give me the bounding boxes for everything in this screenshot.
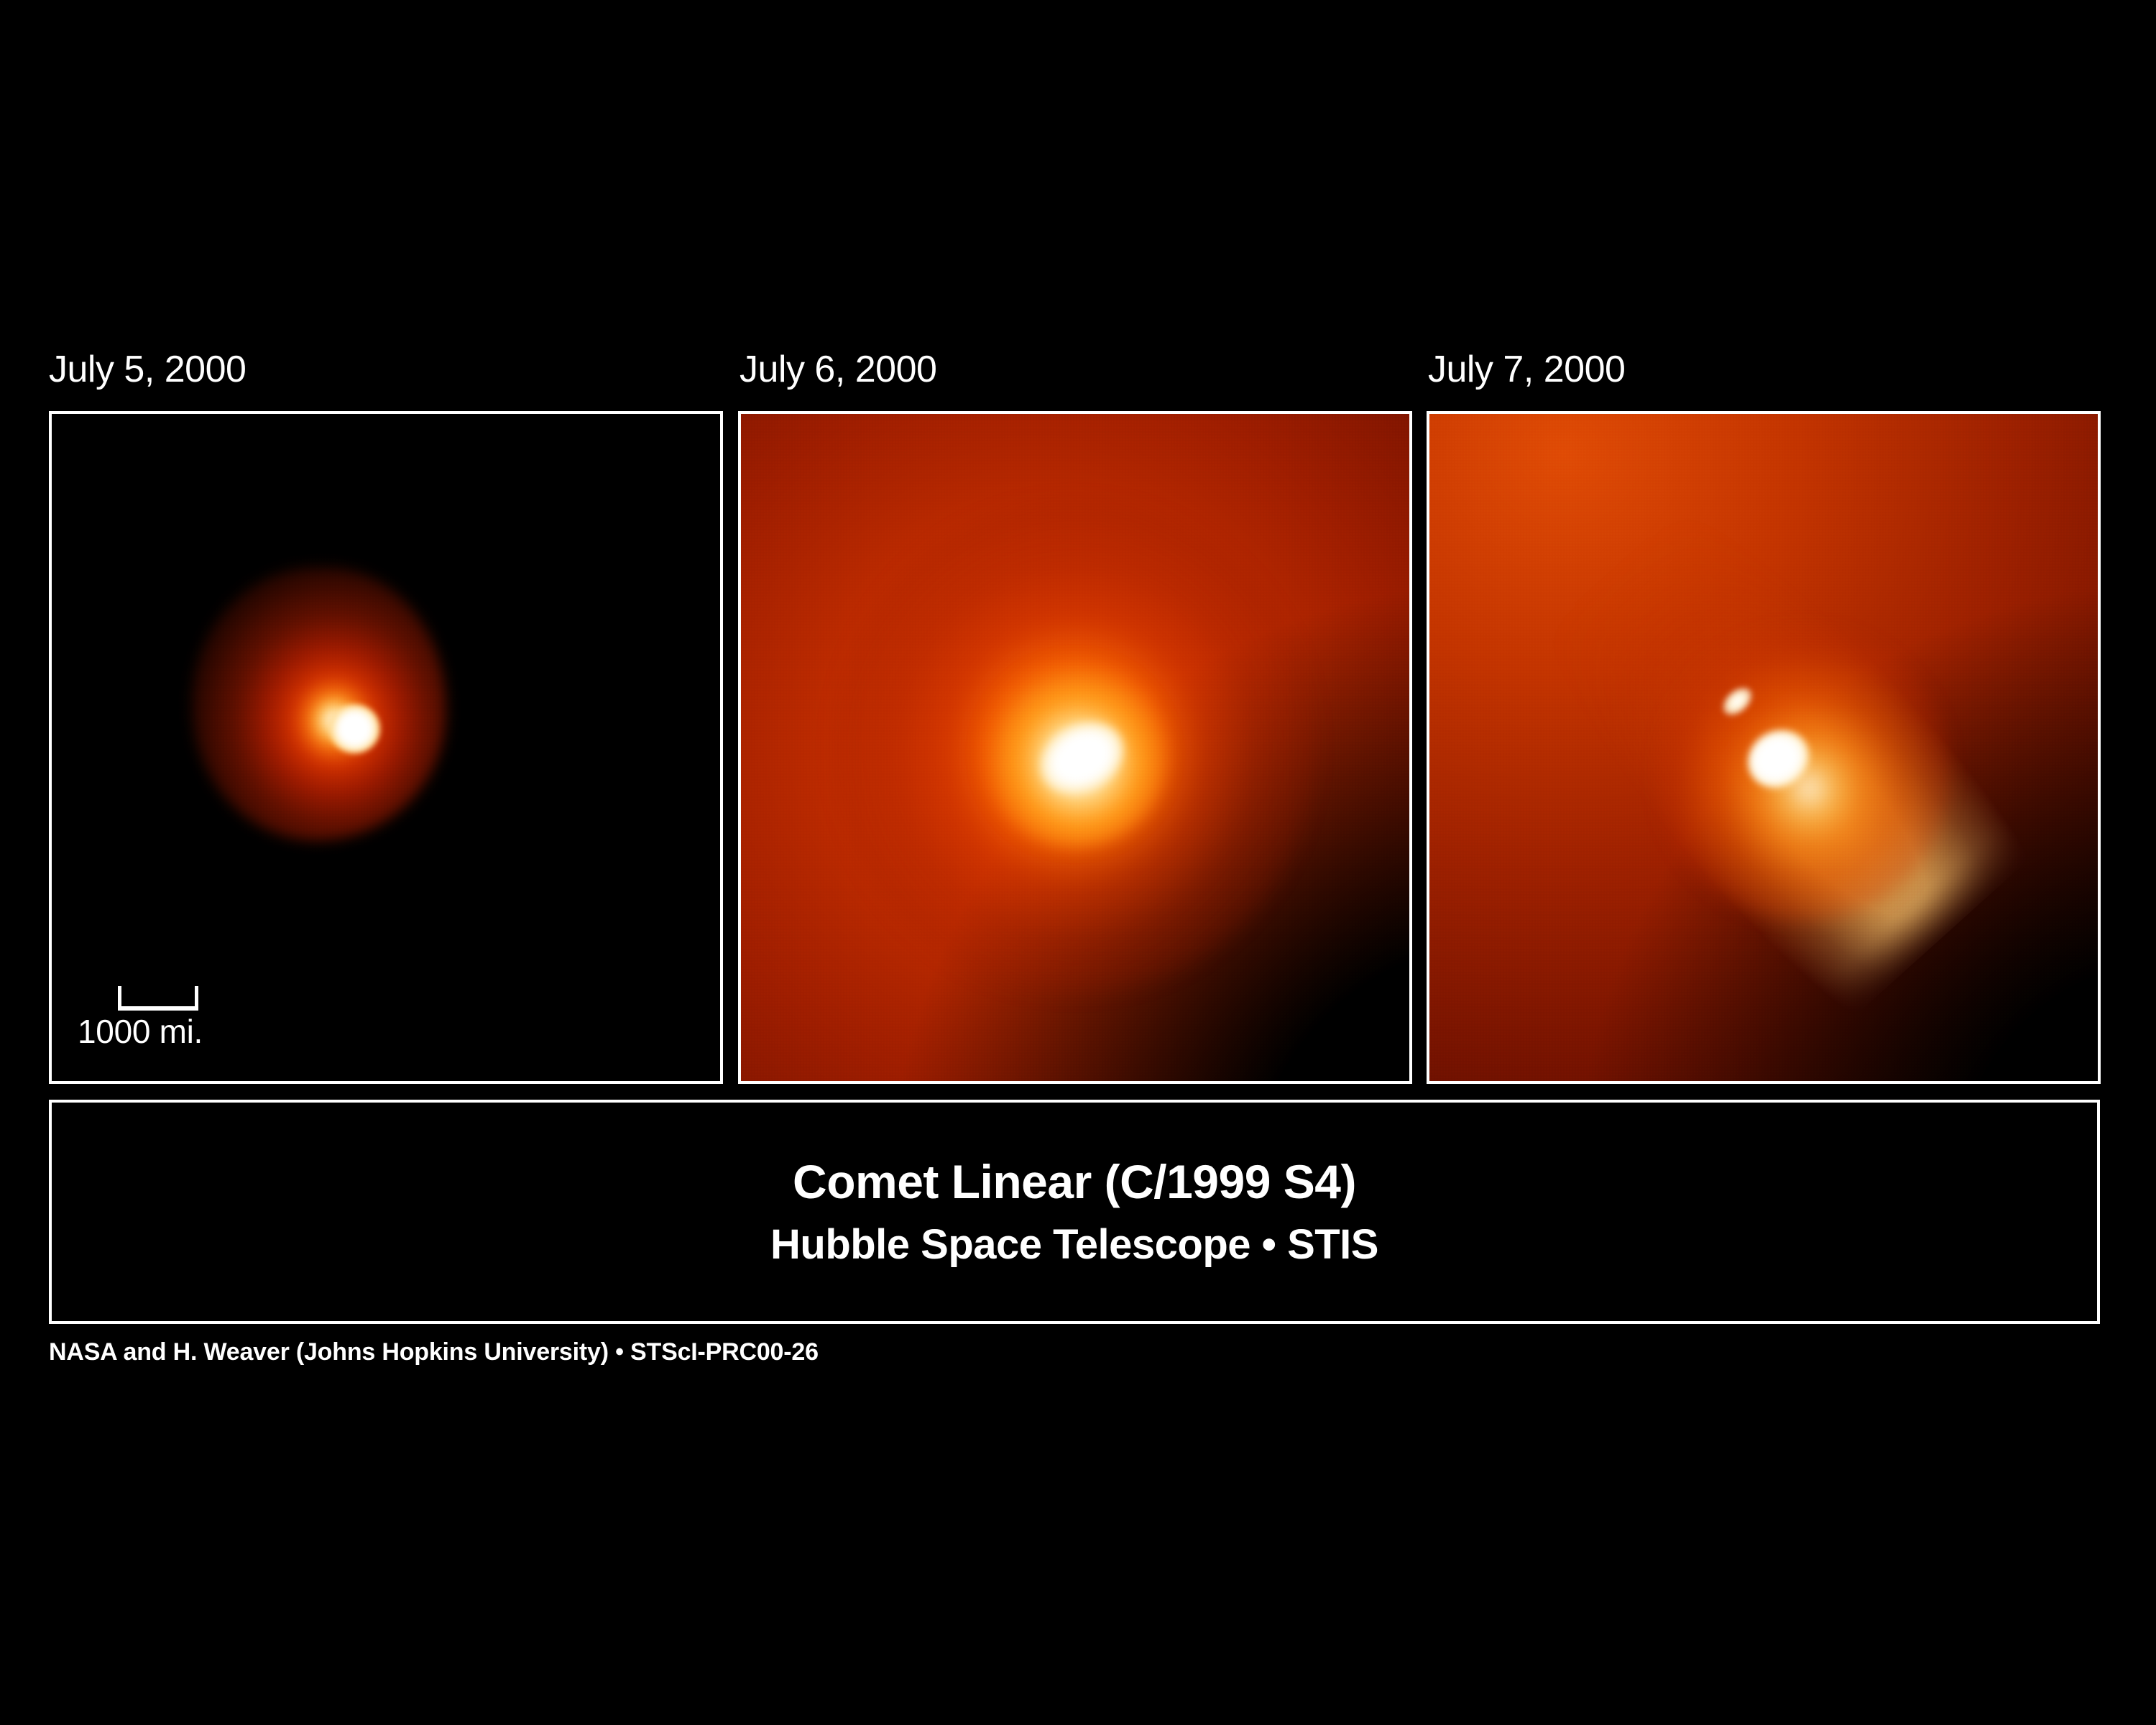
credit-line: NASA and H. Weaver (Johns Hopkins Univer… bbox=[49, 1340, 819, 1364]
panel-date-label-1: July 5, 2000 bbox=[49, 351, 246, 388]
scale-bar bbox=[118, 986, 198, 1011]
comet-nucleus-1 bbox=[329, 704, 380, 754]
coma-halo-1 bbox=[192, 567, 446, 840]
scale-bar-label: 1000 mi. bbox=[78, 1015, 203, 1048]
comet-image-panel-july-5 bbox=[49, 411, 723, 1084]
comet-image-panel-july-6 bbox=[738, 411, 1412, 1084]
figure-subtitle: Hubble Space Telescope • STIS bbox=[770, 1224, 1378, 1266]
comet-image-panel-july-7 bbox=[1427, 411, 2101, 1084]
panel-date-label-3: July 7, 2000 bbox=[1428, 351, 1625, 388]
figure-title: Comet Linear (C/1999 S4) bbox=[793, 1158, 1356, 1205]
scale-bar-bracket-icon bbox=[118, 986, 198, 1011]
panel-date-label-2: July 6, 2000 bbox=[740, 351, 936, 388]
coma-halo-3 bbox=[1657, 627, 1950, 921]
title-box: Comet Linear (C/1999 S4) Hubble Space Te… bbox=[49, 1100, 2100, 1324]
hubble-comet-figure: July 5, 2000 July 6, 2000 July 7, 2000 1… bbox=[0, 0, 2156, 1725]
